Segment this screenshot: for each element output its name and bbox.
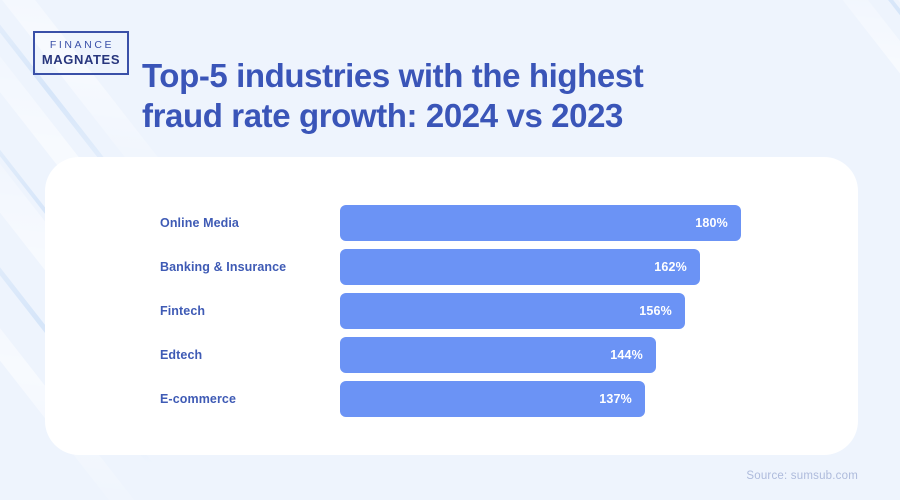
horizontal-bar-chart: Online Media180%Banking & Insurance162%F… bbox=[45, 157, 858, 455]
source-caption: Source: sumsub.com bbox=[746, 470, 858, 482]
infographic-canvas: FINANCE MAGNATES Top-5 industries with t… bbox=[0, 0, 900, 500]
logo-top-text: FINANCE bbox=[48, 39, 114, 52]
finance-magnates-logo: FINANCE MAGNATES bbox=[33, 31, 129, 75]
bar-value-label: 162% bbox=[654, 260, 700, 274]
page-title-line-2: fraud rate growth: 2024 vs 2023 bbox=[142, 96, 842, 136]
bar-category-label: Online Media bbox=[160, 216, 340, 230]
bar-category-label: E-commerce bbox=[160, 392, 340, 406]
bar-value-label: 156% bbox=[639, 304, 685, 318]
chart-bar-row: Edtech144% bbox=[45, 337, 858, 373]
bar: 180% bbox=[340, 205, 741, 241]
page-title: Top-5 industries with the highest fraud … bbox=[142, 56, 842, 136]
bar-value-label: 180% bbox=[695, 216, 741, 230]
chart-bar-row: Fintech156% bbox=[45, 293, 858, 329]
chart-bar-row: Banking & Insurance162% bbox=[45, 249, 858, 285]
bar: 162% bbox=[340, 249, 700, 285]
logo-bottom-text: MAGNATES bbox=[42, 52, 120, 67]
bar-category-label: Edtech bbox=[160, 348, 340, 362]
bar-category-label: Banking & Insurance bbox=[160, 260, 340, 274]
bar: 137% bbox=[340, 381, 645, 417]
page-title-line-1: Top-5 industries with the highest bbox=[142, 56, 842, 96]
bar-category-label: Fintech bbox=[160, 304, 340, 318]
chart-bar-row: E-commerce137% bbox=[45, 381, 858, 417]
chart-card: Online Media180%Banking & Insurance162%F… bbox=[45, 157, 858, 455]
bar-value-label: 137% bbox=[599, 392, 645, 406]
chart-bar-row: Online Media180% bbox=[45, 205, 858, 241]
bar-value-label: 144% bbox=[610, 348, 656, 362]
bar: 144% bbox=[340, 337, 656, 373]
bar: 156% bbox=[340, 293, 685, 329]
